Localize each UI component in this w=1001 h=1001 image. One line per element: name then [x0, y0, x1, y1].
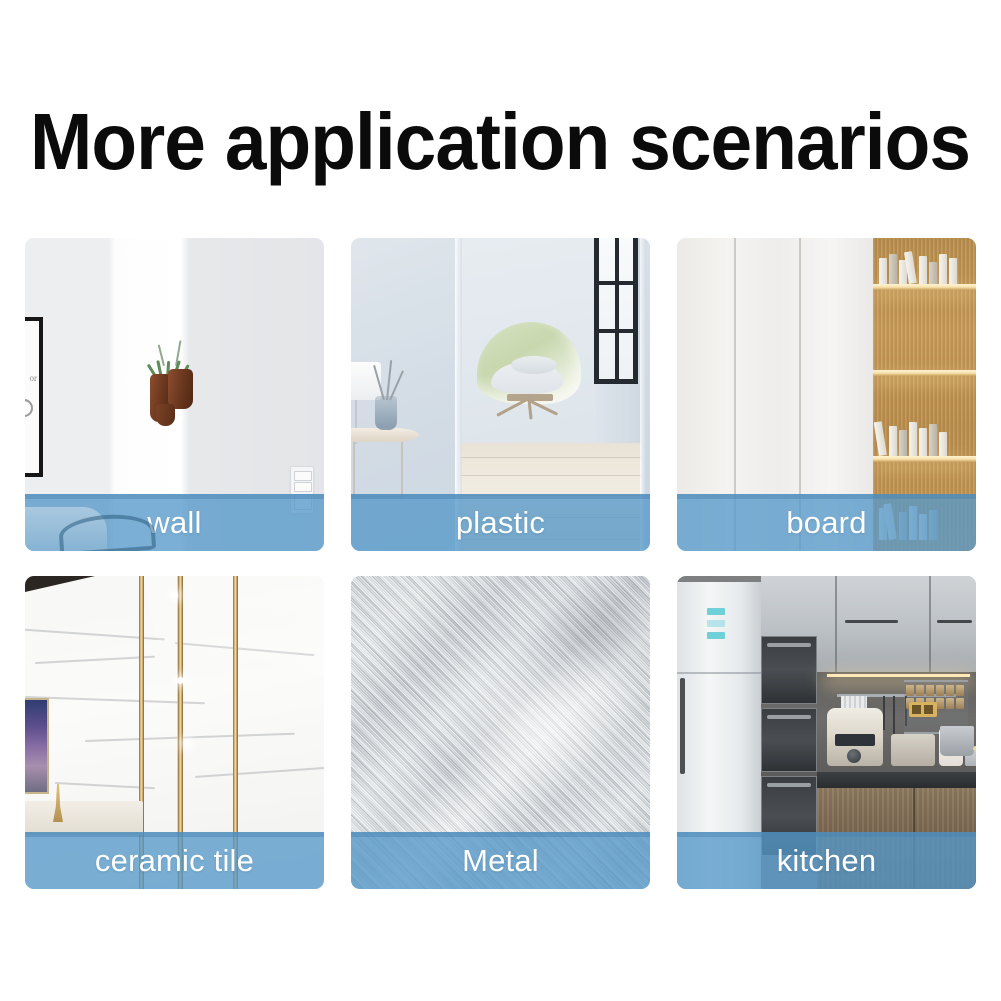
glass-vase — [375, 396, 397, 430]
side-table — [351, 428, 419, 442]
scenario-card-metal[interactable]: Metal — [351, 576, 650, 889]
ceiling-light-reflection — [177, 677, 184, 684]
led-light-strip — [827, 674, 970, 677]
card-label-text: Metal — [462, 845, 539, 876]
framed-picture: or — [25, 317, 43, 477]
frame-artwork-text: or — [30, 373, 38, 383]
scenario-card-board[interactable]: board — [677, 238, 976, 551]
card-label-text: wall — [147, 507, 201, 538]
hanging-utensil — [893, 696, 895, 736]
wall-planter — [149, 360, 195, 424]
fridge-handle — [680, 678, 685, 774]
egg-chair — [477, 322, 581, 412]
hanging-utensil — [883, 696, 885, 730]
card-label-bar: Metal — [351, 832, 650, 889]
cooker-display — [835, 734, 875, 746]
scenario-card-kitchen[interactable]: kitchen — [677, 576, 976, 889]
card-label-bar: plastic — [351, 494, 650, 551]
multi-cooker-appliance — [827, 708, 883, 766]
card-label-text: ceramic tile — [95, 845, 254, 876]
built-in-oven — [761, 708, 817, 772]
ceiling-light-reflection — [183, 740, 190, 747]
planter-pot — [156, 404, 175, 426]
infographic-page: More application scenarios or — [0, 0, 1001, 1001]
card-label-bar: ceramic tile — [25, 832, 324, 889]
counter — [25, 801, 143, 835]
planter-pot — [168, 369, 193, 409]
chair-cushion — [511, 356, 557, 374]
built-in-oven — [761, 636, 817, 704]
cooker-knob — [847, 749, 861, 763]
scenario-card-plastic[interactable]: plastic — [351, 238, 650, 551]
toaster — [891, 734, 935, 766]
card-label-text: board — [786, 507, 866, 538]
card-label-bar: kitchen — [677, 832, 976, 889]
cooking-pot — [940, 726, 974, 756]
scenario-card-wall[interactable]: or — [25, 238, 324, 551]
shelf-board — [873, 284, 976, 290]
book-row — [879, 238, 976, 284]
window — [594, 238, 638, 384]
page-title: More application scenarios — [30, 101, 928, 183]
book-row — [879, 414, 976, 456]
card-label-text: kitchen — [777, 845, 877, 876]
framed-artwork — [25, 698, 49, 794]
countertop — [817, 772, 976, 788]
side-table-legs — [353, 442, 403, 498]
scenario-card-ceramic-tile[interactable]: ceramic tile — [25, 576, 324, 889]
shelf-board — [873, 370, 976, 376]
shelf-board — [873, 456, 976, 462]
scenario-card-grid: or — [25, 238, 976, 889]
table-lamp — [351, 362, 381, 400]
wall-socket — [909, 702, 937, 717]
ceiling-light-reflection — [171, 592, 178, 599]
card-label-text: plastic — [456, 507, 545, 538]
card-label-bar: board — [677, 494, 976, 551]
fridge-display-panel — [707, 608, 725, 654]
